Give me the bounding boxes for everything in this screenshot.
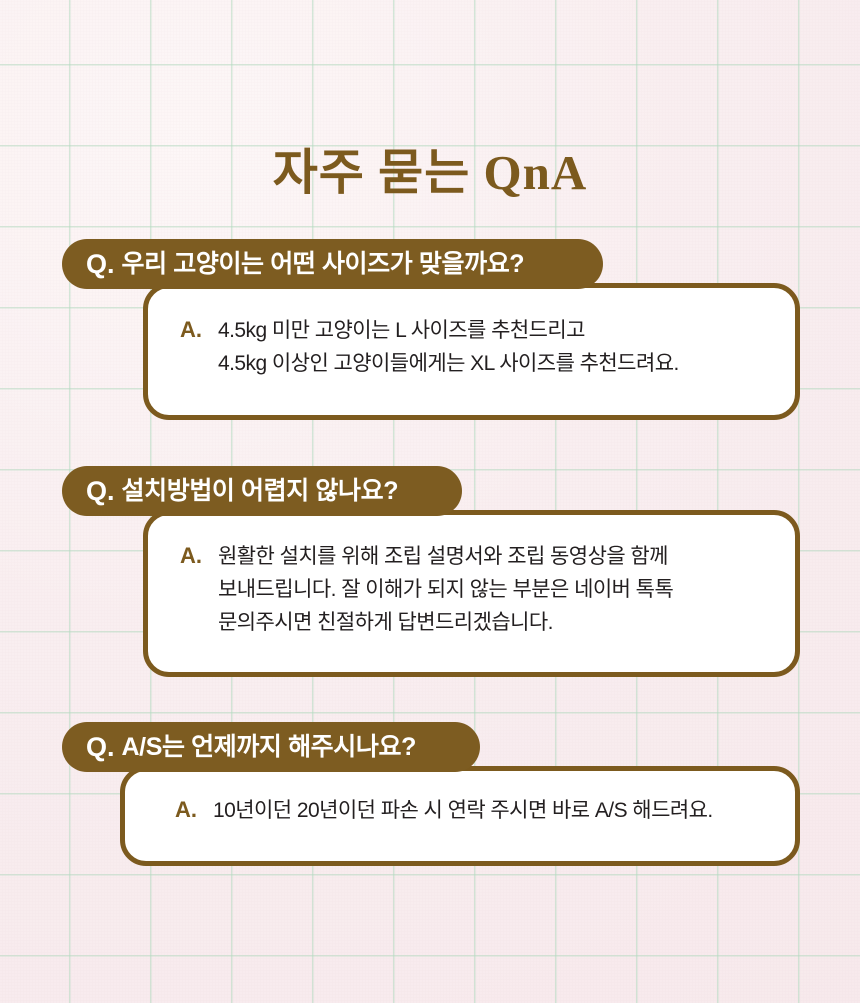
answer-text: 4.5kg 미만 고양이는 L 사이즈를 추천드리고 4.5kg 이상인 고양이… [218,314,679,380]
answer-line: 원활한 설치를 위해 조립 설명서와 조립 동영상을 함께 [218,540,673,573]
answer-card: A. 10년이던 20년이던 파손 시 연락 주시면 바로 A/S 해드려요. [120,766,800,866]
answer-marker: A. [175,794,197,826]
answer-content: A. 10년이던 20년이던 파손 시 연락 주시면 바로 A/S 해드려요. [175,794,713,827]
faq-page: 자주 묻는 QnA A. 4.5kg 미만 고양이는 L 사이즈를 추천드리고 … [0,0,860,1003]
answer-card: A. 4.5kg 미만 고양이는 L 사이즈를 추천드리고 4.5kg 이상인 … [143,283,800,420]
answer-line: 보내드립니다. 잘 이해가 되지 않는 부분은 네이버 톡톡 [218,573,673,606]
question-text: 설치방법이 어렵지 않나요? [122,479,399,504]
answer-line: 4.5kg 미만 고양이는 L 사이즈를 추천드리고 [218,314,679,347]
answer-card: A. 원활한 설치를 위해 조립 설명서와 조립 동영상을 함께 보내드립니다.… [143,510,800,677]
answer-content: A. 원활한 설치를 위해 조립 설명서와 조립 동영상을 함께 보내드립니다.… [180,540,673,639]
question-text: 우리 고양이는 어떤 사이즈가 맞을까요? [122,252,525,277]
answer-content: A. 4.5kg 미만 고양이는 L 사이즈를 추천드리고 4.5kg 이상인 … [180,314,679,380]
question-marker: Q. [86,251,115,278]
answer-line: 10년이던 20년이던 파손 시 연락 주시면 바로 A/S 해드려요. [213,794,713,827]
answer-text: 원활한 설치를 위해 조립 설명서와 조립 동영상을 함께 보내드립니다. 잘 … [218,540,673,639]
answer-line: 문의주시면 친절하게 답변드리겠습니다. [218,606,673,639]
answer-text: 10년이던 20년이던 파손 시 연락 주시면 바로 A/S 해드려요. [213,794,713,827]
question-marker: Q. [86,734,115,761]
question-bar[interactable]: Q. 설치방법이 어렵지 않나요? [62,466,462,516]
question-marker: Q. [86,478,115,505]
question-bar[interactable]: Q. 우리 고양이는 어떤 사이즈가 맞을까요? [62,239,603,289]
answer-line: 4.5kg 이상인 고양이들에게는 XL 사이즈를 추천드려요. [218,347,679,380]
page-title: 자주 묻는 QnA [0,133,860,204]
answer-marker: A. [180,540,202,572]
question-text: A/S는 언제까지 해주시나요? [122,735,416,760]
question-bar[interactable]: Q. A/S는 언제까지 해주시나요? [62,722,480,772]
answer-marker: A. [180,314,202,346]
